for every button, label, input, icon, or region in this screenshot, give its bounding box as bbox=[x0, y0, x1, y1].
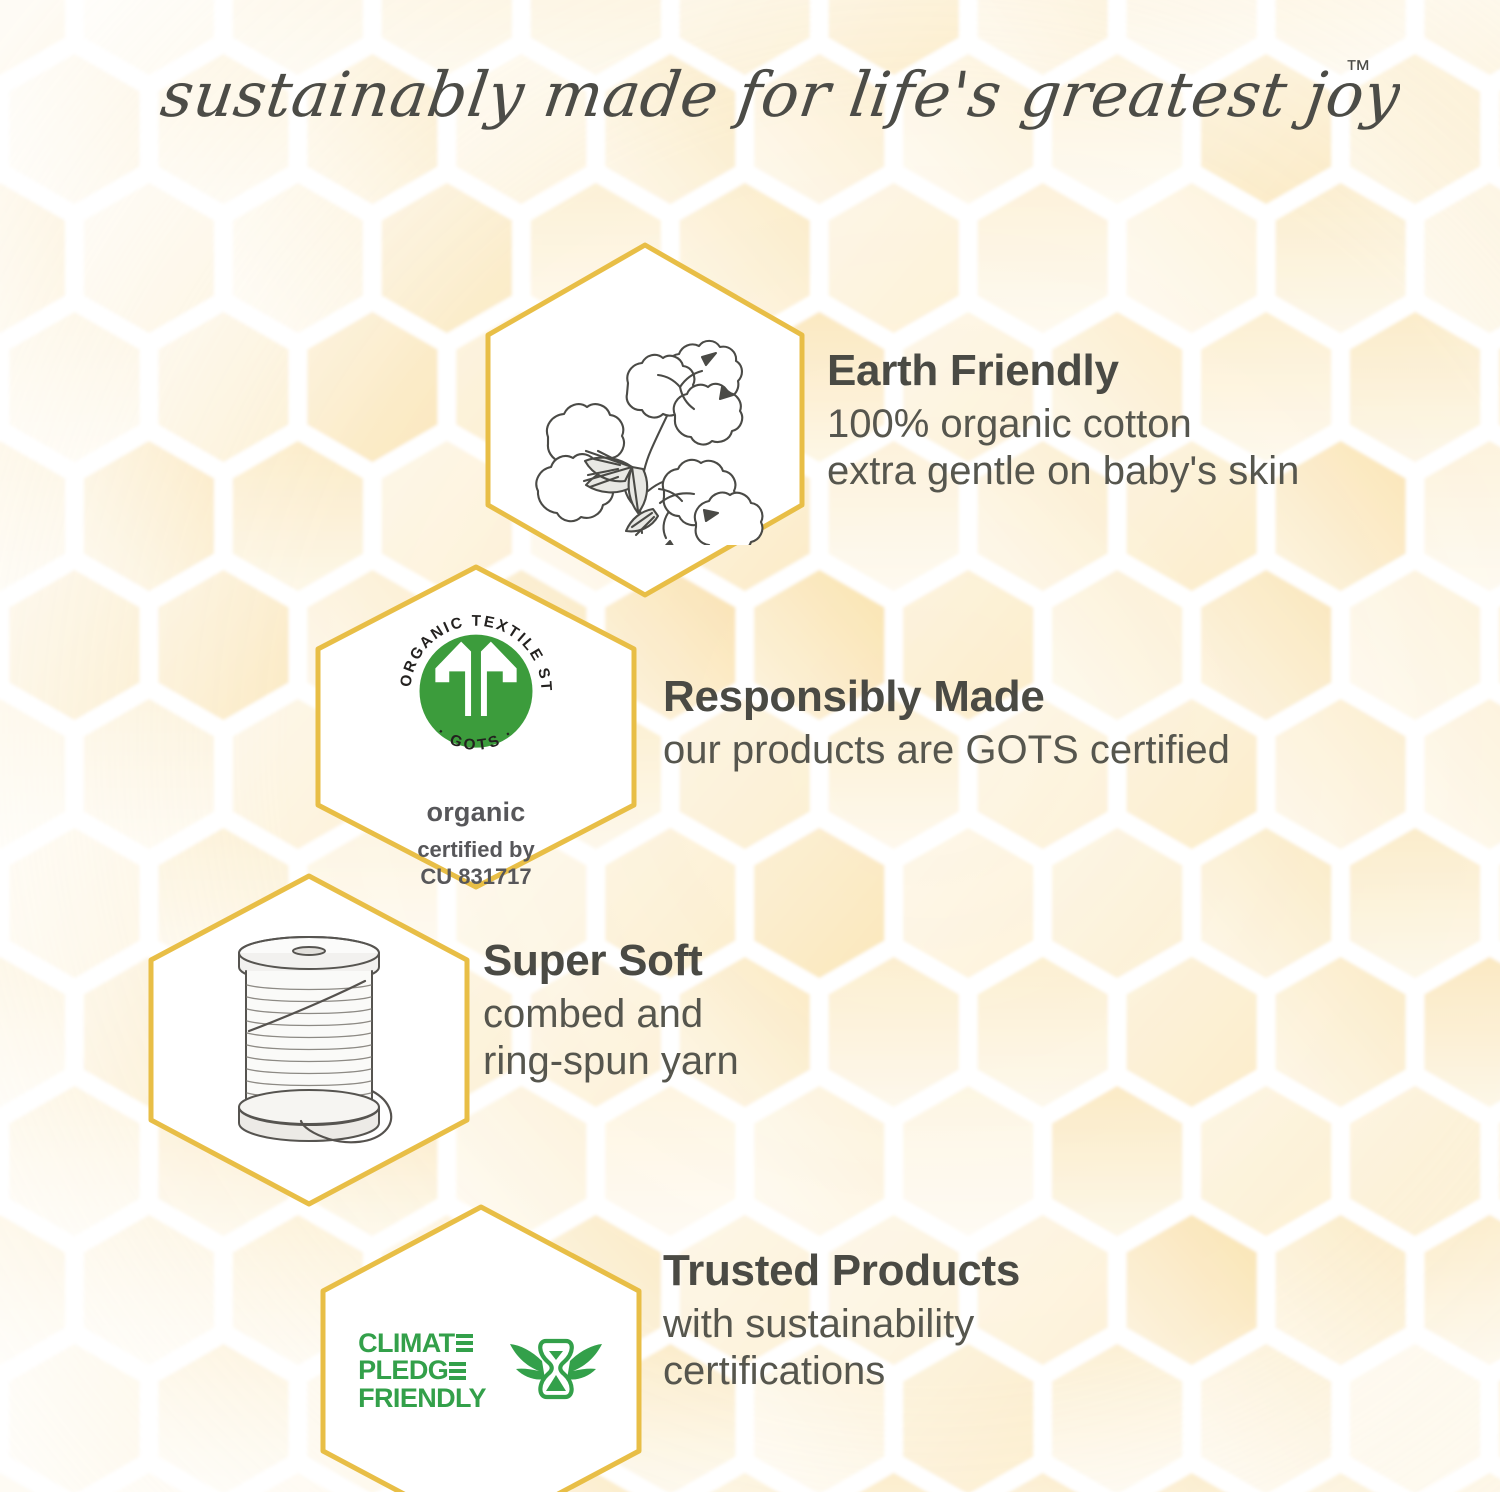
honeycomb-cell bbox=[973, 178, 1112, 339]
honeycomb-cell bbox=[5, 1339, 144, 1492]
feature-line: ring-spun yarn bbox=[483, 1038, 739, 1085]
feature-hex-super-soft bbox=[146, 872, 472, 1208]
honeycomb-cell bbox=[1345, 565, 1484, 726]
thread-spool-icon bbox=[189, 915, 429, 1165]
honeycomb-cell bbox=[1048, 823, 1187, 984]
honeycomb-cell bbox=[1420, 1468, 1500, 1492]
feature-hex-earth-friendly bbox=[483, 240, 807, 600]
honeycomb-cell bbox=[1271, 1468, 1410, 1492]
svg-text:sustainably made for life's gr: sustainably made for life's greatest joy bbox=[157, 58, 1400, 131]
honeycomb-cell bbox=[1345, 823, 1484, 984]
headline-script-text: sustainably made for life's greatest joy… bbox=[100, 44, 1400, 144]
honeycomb-cell bbox=[79, 178, 218, 339]
feature-text-responsibly-made: Responsibly Made our products are GOTS c… bbox=[663, 674, 1230, 774]
honeycomb-cell bbox=[1271, 952, 1410, 1113]
feature-title: Trusted Products bbox=[663, 1248, 1020, 1295]
honeycomb-cell bbox=[5, 823, 144, 984]
honeycomb-cell bbox=[0, 1210, 70, 1371]
feature-text-super-soft: Super Soft combed and ring-spun yarn bbox=[483, 938, 739, 1085]
honeycomb-cell bbox=[1494, 823, 1500, 984]
honeycomb-cell bbox=[973, 1468, 1112, 1492]
honeycomb-cell bbox=[1271, 694, 1410, 855]
cpf-bars-icon bbox=[456, 1334, 473, 1352]
honeycomb-cell bbox=[1345, 1081, 1484, 1242]
honeycomb-cell bbox=[1197, 1339, 1336, 1492]
honeycomb-cell bbox=[1345, 307, 1484, 468]
feature-hex-trusted-products: CLIMAT PLEDG FRIENDLY bbox=[318, 1203, 644, 1492]
honeycomb-cell bbox=[1420, 436, 1500, 597]
feature-title: Responsibly Made bbox=[663, 674, 1230, 721]
honeycomb-cell bbox=[1197, 823, 1336, 984]
honeycomb-cell bbox=[1494, 565, 1500, 726]
honeycomb-cell bbox=[1048, 1081, 1187, 1242]
cpf-line-2: PLEDG bbox=[358, 1357, 448, 1385]
honeycomb-cell bbox=[228, 178, 367, 339]
honeycomb-cell bbox=[824, 952, 963, 1113]
feature-text-trusted-products: Trusted Products with sustainability cer… bbox=[663, 1248, 1020, 1395]
honeycomb-cell bbox=[675, 1468, 814, 1492]
honeycomb-cell bbox=[1271, 1210, 1410, 1371]
honeycomb-cell bbox=[0, 694, 70, 855]
honeycomb-cell bbox=[154, 565, 293, 726]
gots-green-circle bbox=[420, 635, 533, 748]
winged-hourglass-icon bbox=[508, 1331, 604, 1411]
honeycomb-cell bbox=[154, 1339, 293, 1492]
honeycomb-cell bbox=[1048, 1339, 1187, 1492]
honeycomb-cell bbox=[1122, 952, 1261, 1113]
honeycomb-cell bbox=[0, 1468, 70, 1492]
honeycomb-cell bbox=[1494, 307, 1500, 468]
honeycomb-cell bbox=[0, 178, 70, 339]
honeycomb-cell bbox=[0, 952, 70, 1113]
feature-title: Earth Friendly bbox=[827, 348, 1299, 395]
honeycomb-cell bbox=[79, 1210, 218, 1371]
cpf-line-1: CLIMAT bbox=[358, 1330, 454, 1358]
honeycomb-cell bbox=[1122, 178, 1261, 339]
gots-organic-label: organic bbox=[427, 797, 526, 828]
honeycomb-cell bbox=[750, 823, 889, 984]
honeycomb-cell bbox=[5, 307, 144, 468]
honeycomb-cell bbox=[1494, 1339, 1500, 1492]
gots-badge: GLOBAL ORGANIC TEXTILE STANDARD · GOTS ·… bbox=[313, 563, 639, 891]
climate-pledge-wordmark: CLIMAT PLEDG FRIENDLY bbox=[358, 1330, 486, 1413]
feature-line: certifications bbox=[663, 1348, 1020, 1395]
honeycomb-cell bbox=[1420, 694, 1500, 855]
honeycomb-cell bbox=[0, 436, 70, 597]
honeycomb-cell bbox=[1494, 1081, 1500, 1242]
honeycomb-cell bbox=[1420, 952, 1500, 1113]
feature-hex-responsibly-made: GLOBAL ORGANIC TEXTILE STANDARD · GOTS ·… bbox=[313, 563, 639, 891]
honeycomb-cell bbox=[1420, 178, 1500, 339]
honeycomb-cell bbox=[899, 823, 1038, 984]
honeycomb-cell bbox=[79, 694, 218, 855]
climate-pledge-friendly-badge: CLIMAT PLEDG FRIENDLY bbox=[318, 1203, 644, 1492]
feature-line: combed and bbox=[483, 991, 739, 1038]
honeycomb-cell bbox=[899, 1081, 1038, 1242]
feature-line: our products are GOTS certified bbox=[663, 727, 1230, 774]
honeycomb-cell bbox=[303, 307, 442, 468]
feature-line: 100% organic cotton bbox=[827, 401, 1299, 448]
honeycomb-cell bbox=[154, 307, 293, 468]
feature-title: Super Soft bbox=[483, 938, 739, 985]
svg-text:™: ™ bbox=[1345, 54, 1371, 84]
promo-graphic: sustainably made for life's greatest joy… bbox=[0, 0, 1500, 1492]
honeycomb-cell bbox=[1345, 1339, 1484, 1492]
headline: sustainably made for life's greatest joy… bbox=[0, 44, 1500, 144]
honeycomb-cell bbox=[1420, 1210, 1500, 1371]
honeycomb-cell bbox=[5, 1081, 144, 1242]
honeycomb-cell bbox=[79, 436, 218, 597]
honeycomb-cell bbox=[1122, 1210, 1261, 1371]
feature-text-earth-friendly: Earth Friendly 100% organic cotton extra… bbox=[827, 348, 1299, 495]
cpf-bars-icon bbox=[449, 1362, 466, 1380]
honeycomb-cell bbox=[5, 565, 144, 726]
cpf-line-3: FRIENDLY bbox=[358, 1385, 486, 1413]
gots-certified-by: certified by bbox=[417, 837, 534, 864]
gots-seal-icon: GLOBAL ORGANIC TEXTILE STANDARD · GOTS · bbox=[383, 599, 569, 783]
honeycomb-cell bbox=[79, 1468, 218, 1492]
honeycomb-cell bbox=[824, 178, 963, 339]
honeycomb-cell bbox=[1197, 1081, 1336, 1242]
feature-line: extra gentle on baby's skin bbox=[827, 448, 1299, 495]
honeycomb-cell bbox=[1271, 178, 1410, 339]
cotton-branch-icon bbox=[520, 295, 770, 545]
honeycomb-cell bbox=[973, 952, 1112, 1113]
honeycomb-cell bbox=[750, 1081, 889, 1242]
honeycomb-cell bbox=[1122, 1468, 1261, 1492]
feature-line: with sustainability bbox=[663, 1301, 1020, 1348]
honeycomb-cell bbox=[824, 1468, 963, 1492]
